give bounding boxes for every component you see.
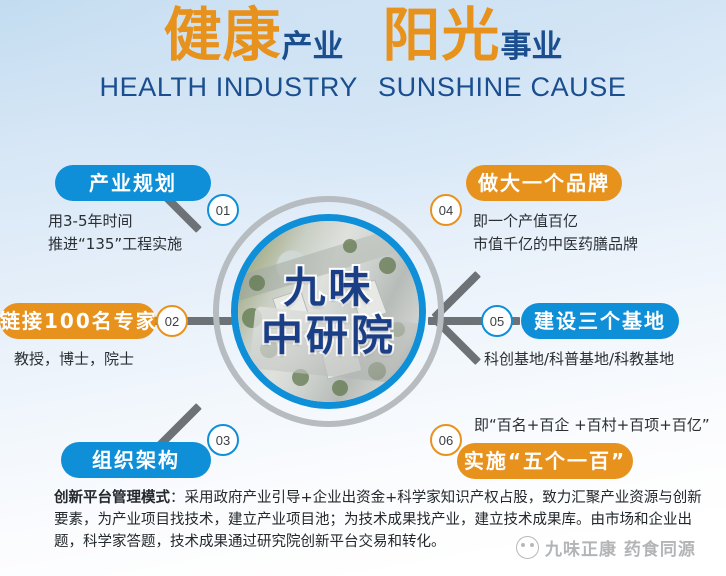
node-pill-02[interactable]: 链接100名专家 [0, 303, 156, 339]
title-health-big: 健康 [164, 1, 282, 69]
node-desc-01-line2: 推进“135”工程实施 [48, 233, 182, 256]
node-pill-06[interactable]: 实施“五个一百” [457, 443, 633, 479]
node-desc-04-line2: 市值千亿的中医药膳品牌 [473, 233, 638, 256]
footer-lead: 创新平台管理模式 [54, 490, 170, 506]
node-desc-05: 科创基地/科普基地/科教基地 [484, 348, 674, 371]
node-desc-02: 教授，博士，院士 [14, 348, 134, 371]
node-desc-04-line1: 即一个产值百亿 [473, 210, 638, 233]
page-header: 健康产业 阳光事业 HEALTH INDUSTRYSUNSHINE CAUSE [0, 6, 726, 103]
node-desc-06: 即“百名+百企 +百村+百项+百亿” [474, 414, 710, 437]
title-sunshine-big: 阳光 [382, 1, 500, 69]
node-desc-02-line1: 教授，博士，院士 [14, 348, 134, 371]
center-wheel: 九味 中研院 [213, 196, 444, 427]
node-pill-04[interactable]: 做大一个品牌 [466, 165, 622, 201]
node-pill-01[interactable]: 产业规划 [55, 165, 211, 201]
title-industry-small: 产业 [282, 29, 344, 65]
node-badge-06[interactable]: 06 [430, 424, 462, 456]
infographic-canvas: 健康产业 阳光事业 HEALTH INDUSTRYSUNSHINE CAUSE [0, 0, 726, 576]
node-pill-03[interactable]: 组织架构 [61, 442, 211, 478]
node-badge-05[interactable]: 05 [481, 305, 513, 337]
node-desc-06-line1: 即“百名+百企 +百村+百项+百亿” [474, 414, 710, 437]
header-chinese-title: 健康产业 阳光事业 [0, 6, 726, 64]
campus-photo [238, 221, 419, 402]
node-badge-04[interactable]: 04 [430, 194, 462, 226]
node-desc-04: 即一个产值百亿 市值千亿的中医药膳品牌 [473, 210, 638, 257]
title-en-left: HEALTH INDUSTRY [100, 72, 359, 102]
title-cause-small: 事业 [500, 29, 562, 65]
node-desc-05-line1: 科创基地/科普基地/科教基地 [484, 348, 674, 371]
node-desc-01-line1: 用3-5年时间 [48, 210, 182, 233]
node-badge-02[interactable]: 02 [156, 305, 188, 337]
node-badge-03[interactable]: 03 [207, 424, 239, 456]
title-en-right: SUNSHINE CAUSE [378, 72, 626, 102]
node-pill-05[interactable]: 建设三个基地 [521, 303, 679, 339]
footer-paragraph: 创新平台管理模式：采用政府产业引导+企业出资金+科学家知识产权占股，致力汇聚产业… [54, 487, 714, 553]
node-desc-01: 用3-5年时间 推进“135”工程实施 [48, 210, 182, 257]
header-english-title: HEALTH INDUSTRYSUNSHINE CAUSE [0, 72, 726, 103]
node-badge-01[interactable]: 01 [207, 194, 239, 226]
